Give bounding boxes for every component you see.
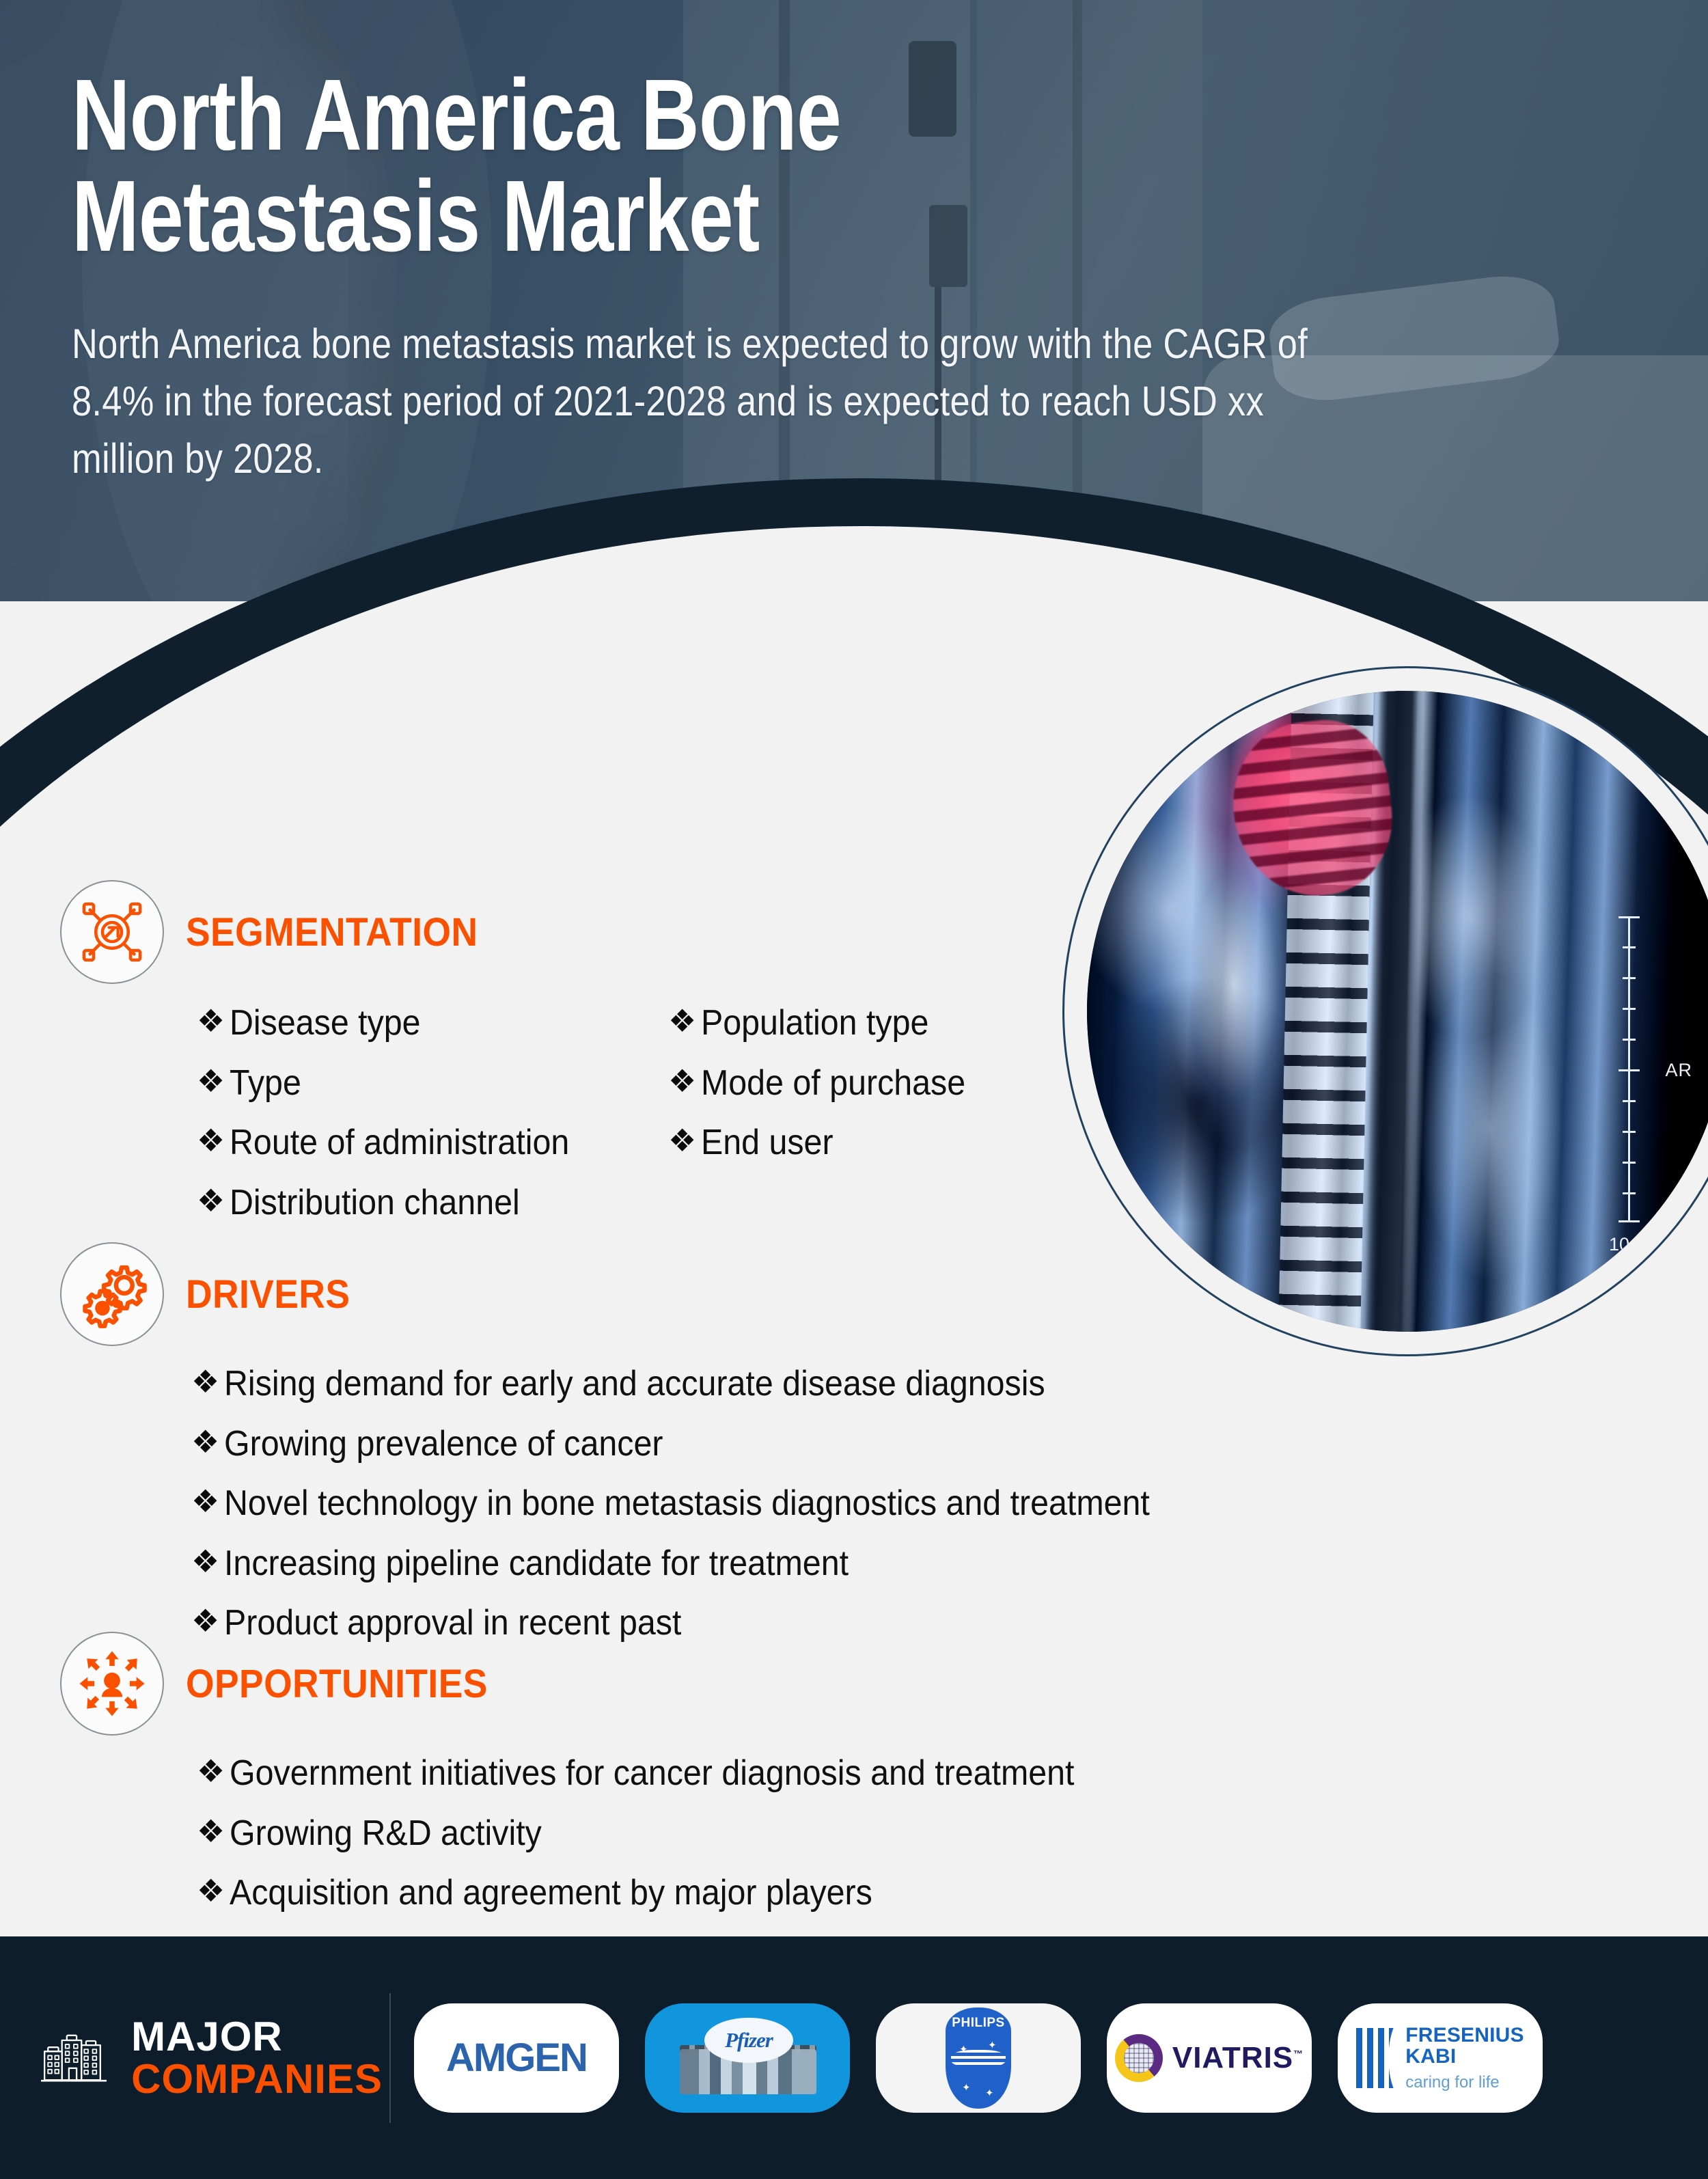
major-label: MAJOR xyxy=(131,2016,383,2057)
bullet-diamond-icon: ❖ xyxy=(197,1184,230,1217)
list-item: ❖ Distribution channel xyxy=(197,1184,668,1222)
company-logos: AMGEN Pfizer PHILIPS ✦ ✦ ✦ ✦ xyxy=(414,2003,1543,2113)
logo-pfizer[interactable]: Pfizer xyxy=(645,2003,850,2113)
logo-viatris[interactable]: VIATRIS™ xyxy=(1107,2003,1312,2113)
philips-wordmark: PHILIPS xyxy=(952,2016,1004,2031)
segmentation-column-1: ❖ Disease type ❖ Type ❖ Route of adminis… xyxy=(197,1004,668,1244)
drivers-list: ❖ Rising demand for early and accurate d… xyxy=(191,1365,1427,1642)
companies-label: COMPANIES xyxy=(131,2058,383,2100)
viatris-wordmark: VIATRIS™ xyxy=(1172,2041,1304,2075)
mri-scale-label: 10cm xyxy=(1609,1234,1654,1255)
bullet-diamond-icon: ❖ xyxy=(668,1065,701,1097)
page-subtitle: North America bone metastasis market is … xyxy=(72,315,1353,488)
segmentation-list: ❖ Disease type ❖ Type ❖ Route of adminis… xyxy=(197,1004,1030,1244)
list-item: ❖ Acquisition and agreement by major pla… xyxy=(197,1874,1427,1912)
bullet-diamond-icon: ❖ xyxy=(191,1485,224,1518)
philips-shield-icon: PHILIPS ✦ ✦ ✦ ✦ xyxy=(946,2007,1011,2109)
list-item: ❖ Mode of purchase xyxy=(668,1065,985,1102)
major-companies-label-block: MAJOR COMPANIES xyxy=(0,2007,383,2109)
logo-philips[interactable]: PHILIPS ✦ ✦ ✦ ✦ xyxy=(876,2003,1081,2113)
expand-person-arrows-icon xyxy=(75,1647,149,1721)
amgen-wordmark: AMGEN xyxy=(446,2035,587,2081)
pfizer-oval: Pfizer xyxy=(704,2018,793,2063)
list-item: ❖ Route of administration xyxy=(197,1124,668,1162)
bullet-diamond-icon: ❖ xyxy=(197,1815,230,1848)
viatris-globe-icon xyxy=(1115,2034,1163,2082)
bullet-diamond-icon: ❖ xyxy=(668,1004,701,1037)
page-title: North America Bone Metastasis Market xyxy=(72,65,1230,267)
bullet-diamond-icon: ❖ xyxy=(197,1065,230,1097)
list-item: ❖ Type xyxy=(197,1065,668,1102)
bullet-diamond-icon: ❖ xyxy=(191,1545,224,1578)
section-segmentation: SEGMENTATION ❖ Disease type ❖ Type ❖ Rou… xyxy=(60,880,1030,1244)
bullet-diamond-icon: ❖ xyxy=(197,1874,230,1907)
bullet-diamond-icon: ❖ xyxy=(191,1425,224,1458)
list-item: ❖ Novel technology in bone metastasis di… xyxy=(191,1485,1427,1522)
list-item: ❖ Disease type xyxy=(197,1004,668,1042)
footer-major-companies: MAJOR COMPANIES AMGEN Pfizer PHILIPS ✦ ✦ xyxy=(0,1936,1708,2179)
fresenius-waves-icon xyxy=(1356,2028,1394,2088)
philips-waves xyxy=(951,2050,1006,2068)
buildings-icon xyxy=(40,2007,109,2109)
opportunities-list: ❖ Government initiatives for cancer diag… xyxy=(197,1755,1427,1912)
section-opportunities: OPPORTUNITIES ❖ Government initiatives f… xyxy=(60,1632,1427,1934)
section-title-segmentation: SEGMENTATION xyxy=(186,909,478,955)
opportunities-badge xyxy=(60,1632,164,1736)
list-item: ❖ End user xyxy=(668,1124,985,1162)
gears-icon xyxy=(75,1257,149,1331)
section-drivers: DRIVERS ❖ Rising demand for early and ac… xyxy=(60,1242,1427,1664)
bullet-diamond-icon: ❖ xyxy=(191,1365,224,1398)
fresenius-wordmark-line2: KABI xyxy=(1405,2046,1524,2068)
mri-orientation-label: AR xyxy=(1665,1060,1692,1081)
bullet-diamond-icon: ❖ xyxy=(197,1124,230,1157)
bullet-diamond-icon: ❖ xyxy=(197,1004,230,1037)
list-item: ❖ Population type xyxy=(668,1004,985,1042)
fresenius-tagline: caring for life xyxy=(1405,2074,1524,2091)
segmentation-network-icon xyxy=(75,895,149,969)
list-item: ❖ Government initiatives for cancer diag… xyxy=(197,1755,1427,1792)
logo-fresenius-kabi[interactable]: FRESENIUS KABI caring for life xyxy=(1338,2003,1543,2113)
drivers-badge xyxy=(60,1242,164,1346)
mri-image-clip: AR 10cm xyxy=(1087,691,1708,1332)
mri-scale-bar xyxy=(1616,916,1647,1222)
segmentation-badge xyxy=(60,880,164,984)
section-title-opportunities: OPPORTUNITIES xyxy=(186,1661,488,1707)
pfizer-wordmark: Pfizer xyxy=(725,2028,773,2053)
bullet-diamond-icon: ❖ xyxy=(197,1755,230,1787)
bullet-diamond-icon: ❖ xyxy=(668,1124,701,1157)
section-title-drivers: DRIVERS xyxy=(186,1272,350,1317)
segmentation-column-2: ❖ Population type ❖ Mode of purchase ❖ E… xyxy=(668,1004,985,1244)
list-item: ❖ Growing prevalence of cancer xyxy=(191,1425,1427,1463)
list-item: ❖ Rising demand for early and accurate d… xyxy=(191,1365,1427,1403)
footer-divider xyxy=(389,1993,391,2123)
logo-amgen[interactable]: AMGEN xyxy=(414,2003,619,2113)
list-item: ❖ Increasing pipeline candidate for trea… xyxy=(191,1545,1427,1582)
fresenius-wordmark-line1: FRESENIUS xyxy=(1405,2025,1524,2046)
list-item: ❖ Growing R&D activity xyxy=(197,1815,1427,1852)
